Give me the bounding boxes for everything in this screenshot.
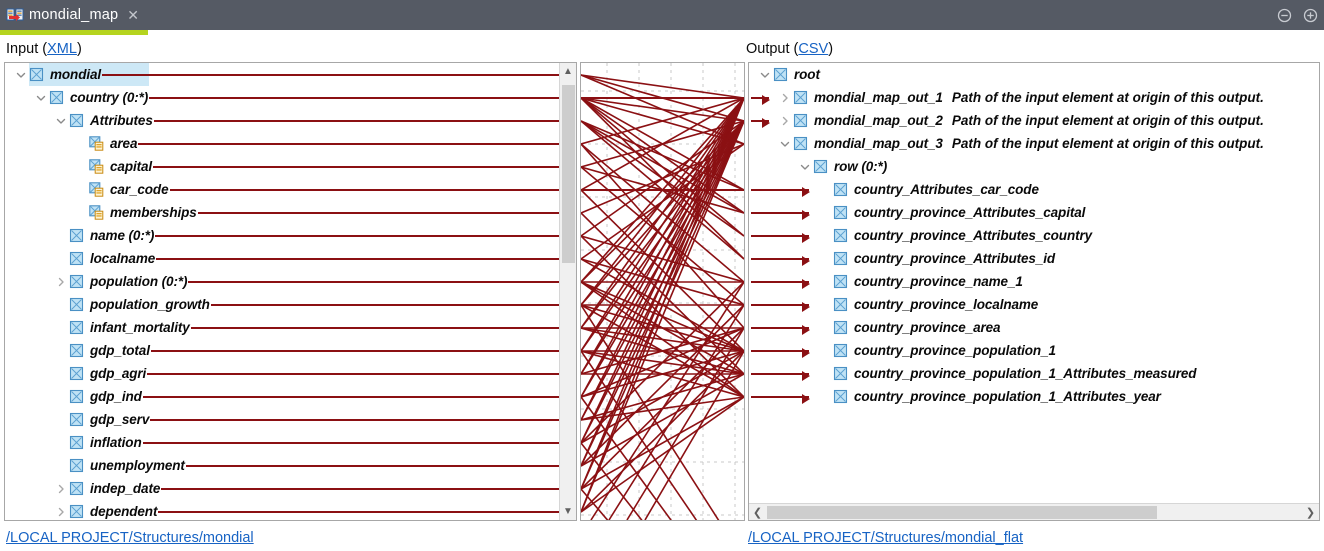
output-tree-row[interactable]: country_province_Attributes_country	[749, 224, 1319, 247]
input-tree-row-label: population (0:*)	[90, 274, 187, 289]
input-tree-row-label: name (0:*)	[90, 228, 154, 243]
element-icon	[69, 113, 84, 128]
mapping-line-stub	[211, 304, 561, 306]
input-tree-row-label: localname	[90, 251, 155, 266]
input-tree-row[interactable]: population (0:*)	[5, 270, 576, 293]
attribute-icon	[89, 205, 104, 220]
chevron-right-icon[interactable]	[53, 484, 69, 494]
origin-hint-text: Path of the input element at origin of t…	[952, 90, 1264, 105]
output-tree-row[interactable]: country_Attributes_car_code	[749, 178, 1319, 201]
input-tree-row[interactable]: area	[5, 132, 576, 155]
origin-hint-text: Path of the input element at origin of t…	[952, 113, 1264, 128]
mapping-line-stub	[158, 511, 561, 513]
chevron-down-icon[interactable]	[53, 116, 69, 126]
element-icon	[69, 435, 84, 450]
output-tree-row[interactable]: country_province_population_1	[749, 339, 1319, 362]
element-icon	[793, 113, 808, 128]
input-tree-row[interactable]: capital	[5, 155, 576, 178]
element-icon	[833, 366, 848, 381]
element-icon	[69, 366, 84, 381]
mapping-line-stub	[102, 74, 561, 76]
element-icon	[833, 205, 848, 220]
tab-mondial-map[interactable]: mondial_map ✕	[0, 0, 148, 30]
input-tree-row[interactable]: gdp_total	[5, 339, 576, 362]
mapping-line-stub	[188, 281, 561, 283]
output-tree-row-label: country_Attributes_car_code	[854, 182, 1039, 197]
output-tree-row-label: country_province_population_1_Attributes…	[854, 366, 1196, 381]
input-tree-row[interactable]: inflation	[5, 431, 576, 454]
window-buttons	[1277, 0, 1318, 30]
mapping-arrow-icon	[751, 327, 809, 329]
chevron-right-icon[interactable]	[53, 507, 69, 517]
scrollbar-thumb[interactable]	[767, 506, 1157, 519]
element-icon	[69, 481, 84, 496]
chevron-right-icon[interactable]	[777, 116, 793, 126]
output-tree-row[interactable]: country_province_population_1_Attributes…	[749, 385, 1319, 408]
output-tree-row-label: mondial_map_out_3	[814, 136, 943, 151]
input-tree-row[interactable]: localname	[5, 247, 576, 270]
element-icon	[793, 136, 808, 151]
input-tree-row[interactable]: population_growth	[5, 293, 576, 316]
output-tree-row-label: country_province_localname	[854, 297, 1038, 312]
output-format-link[interactable]: CSV	[798, 41, 828, 57]
mapping-line-stub	[154, 120, 561, 122]
input-tree-row-label: indep_date	[90, 481, 160, 496]
input-tree-row[interactable]: car_code	[5, 178, 576, 201]
title-bar: mondial_map ✕	[0, 0, 1324, 30]
output-tree-row[interactable]: country_province_Attributes_capital	[749, 201, 1319, 224]
attribute-icon	[89, 182, 104, 197]
element-icon	[773, 67, 788, 82]
input-tree-row-label: inflation	[90, 435, 142, 450]
input-tree-row-label: gdp_ind	[90, 389, 142, 404]
output-tree-row-label: country_province_Attributes_id	[854, 251, 1055, 266]
element-icon	[833, 274, 848, 289]
input-tree-row-label: area	[110, 136, 137, 151]
element-icon	[833, 251, 848, 266]
output-tree-row[interactable]: mondial_map_out_3Path of the input eleme…	[749, 132, 1319, 155]
attribute-icon	[89, 159, 104, 174]
input-tree-row-label: unemployment	[90, 458, 185, 473]
element-icon	[813, 159, 828, 174]
element-icon	[69, 274, 84, 289]
mapping-line-stub	[151, 350, 561, 352]
output-tree-row-label: root	[794, 67, 820, 82]
element-icon	[49, 90, 64, 105]
input-tree-row-label: mondial	[50, 67, 101, 82]
chevron-up-icon[interactable]: ▲	[560, 63, 576, 80]
output-tree-row-label: row (0:*)	[834, 159, 887, 174]
chevron-down-icon[interactable]: ▼	[560, 503, 576, 520]
output-tree-panel[interactable]: rootmondial_map_out_1Path of the input e…	[748, 62, 1320, 521]
element-icon	[69, 458, 84, 473]
input-tree-row[interactable]: indep_date	[5, 477, 576, 500]
input-tree-row-label: capital	[110, 159, 152, 174]
element-icon	[833, 297, 848, 312]
input-tree-row-label: gdp_total	[90, 343, 150, 358]
output-tree-row-label: mondial_map_out_1	[814, 90, 943, 105]
input-tree-row[interactable]: gdp_ind	[5, 385, 576, 408]
output-tree-row-label: country_province_population_1	[854, 343, 1056, 358]
element-icon	[833, 228, 848, 243]
mapping-arrow-icon	[751, 281, 809, 283]
input-tree-row[interactable]: Attributes	[5, 109, 576, 132]
element-icon	[69, 228, 84, 243]
element-icon	[833, 182, 848, 197]
output-header-text-end: )	[828, 41, 833, 57]
mapping-line-stub	[155, 235, 561, 237]
tab-active-accent	[0, 30, 148, 35]
output-tree-row-label: country_province_Attributes_country	[854, 228, 1092, 243]
mapping-line-stub	[143, 442, 561, 444]
element-icon	[69, 504, 84, 519]
output-tree-row[interactable]: row (0:*)	[749, 155, 1319, 178]
input-tree-row[interactable]: unemployment	[5, 454, 576, 477]
input-tree-row[interactable]: mondial	[5, 63, 576, 86]
output-tree-row[interactable]: country_province_name_1	[749, 270, 1319, 293]
mapping-line-stub	[191, 327, 561, 329]
input-tree-row-label: country (0:*)	[70, 90, 148, 105]
connector-panel[interactable]	[580, 62, 745, 521]
input-section-header: Input (XML)	[6, 41, 82, 57]
mapping-line-stub	[149, 97, 561, 99]
mapping-icon	[6, 6, 24, 24]
origin-hint-text: Path of the input element at origin of t…	[952, 136, 1264, 151]
output-section-header: Output (CSV)	[746, 41, 833, 57]
mapping-line-stub	[198, 212, 561, 214]
chevron-down-icon[interactable]	[797, 162, 813, 172]
mapping-arrow-icon	[751, 304, 809, 306]
mapping-line-stub	[161, 488, 561, 490]
circle-plus-icon[interactable]	[1303, 8, 1318, 23]
input-tree-row[interactable]: infant_mortality	[5, 316, 576, 339]
chevron-left-icon[interactable]: ❮	[749, 504, 766, 520]
input-tree-row[interactable]: country (0:*)	[5, 86, 576, 109]
element-icon	[69, 389, 84, 404]
output-tree-row-label: country_province_area	[854, 320, 1000, 335]
input-tree-row[interactable]: name (0:*)	[5, 224, 576, 247]
input-tree-row-label: dependent	[90, 504, 157, 519]
chevron-right-icon[interactable]: ❯	[1302, 504, 1319, 520]
chevron-right-icon[interactable]	[777, 93, 793, 103]
close-icon[interactable]: ✕	[127, 8, 139, 22]
tab-label: mondial_map	[29, 7, 118, 23]
mapping-line-stub	[138, 143, 561, 145]
output-tree-row-label: country_province_name_1	[854, 274, 1023, 289]
mapping-line-stub	[186, 465, 561, 467]
element-icon	[69, 320, 84, 335]
input-tree-row[interactable]: gdp_agri	[5, 362, 576, 385]
mapping-line-stub	[143, 396, 561, 398]
chevron-right-icon[interactable]	[53, 277, 69, 287]
mapping-arrow-icon	[751, 189, 809, 191]
input-tree-row-label: Attributes	[90, 113, 153, 128]
output-structure-path-link[interactable]: /LOCAL PROJECT/Structures/mondial_flat	[748, 530, 1023, 546]
mapping-line-stub	[156, 258, 561, 260]
element-icon	[833, 343, 848, 358]
output-tree-row-label: country_province_population_1_Attributes…	[854, 389, 1161, 404]
element-icon	[793, 90, 808, 105]
output-tree-row-label: country_province_Attributes_capital	[854, 205, 1085, 220]
output-tree-row[interactable]: mondial_map_out_2Path of the input eleme…	[749, 109, 1319, 132]
input-format-link[interactable]: XML	[47, 41, 77, 57]
output-tree-row[interactable]: country_province_population_1_Attributes…	[749, 362, 1319, 385]
input-tree-row[interactable]: memberships	[5, 201, 576, 224]
output-tree[interactable]: rootmondial_map_out_1Path of the input e…	[749, 63, 1319, 520]
mapping-arrow-icon	[751, 258, 809, 260]
element-icon	[69, 343, 84, 358]
element-icon	[833, 389, 848, 404]
input-tree[interactable]: mondialcountry (0:*)Attributesareacapita…	[5, 63, 576, 520]
mapping-arrow-icon	[751, 212, 809, 214]
mapping-arrow-icon	[751, 396, 809, 398]
chevron-down-icon[interactable]	[757, 70, 773, 80]
input-tree-row-label: infant_mortality	[90, 320, 190, 335]
input-tree-row[interactable]: dependent	[5, 500, 576, 520]
circle-minus-icon[interactable]	[1277, 8, 1292, 23]
mapping-arrow-icon	[751, 97, 769, 99]
mapping-arrow-icon	[751, 350, 809, 352]
output-header-text: Output (	[746, 41, 798, 57]
output-tree-row[interactable]: country_province_Attributes_id	[749, 247, 1319, 270]
output-tree-row[interactable]: mondial_map_out_1Path of the input eleme…	[749, 86, 1319, 109]
output-horizontal-scrollbar[interactable]: ❮ ❯	[749, 503, 1319, 520]
mapping-connector-lines	[581, 63, 744, 520]
element-icon	[69, 297, 84, 312]
input-header-text-end: )	[77, 41, 82, 57]
output-tree-row-label: mondial_map_out_2	[814, 113, 943, 128]
mapping-arrow-icon	[751, 373, 809, 375]
chevron-down-icon[interactable]	[777, 139, 793, 149]
input-tree-row-label: memberships	[110, 205, 197, 220]
element-icon	[29, 67, 44, 82]
input-tree-row-label: car_code	[110, 182, 169, 197]
input-tree-panel[interactable]: mondialcountry (0:*)Attributesareacapita…	[4, 62, 577, 521]
mapping-line-stub	[153, 166, 561, 168]
input-structure-path-link[interactable]: /LOCAL PROJECT/Structures/mondial	[6, 530, 254, 546]
input-tree-row[interactable]: gdp_serv	[5, 408, 576, 431]
input-tree-row-label: population_growth	[90, 297, 210, 312]
mapping-arrow-icon	[751, 235, 809, 237]
input-tree-row-label: gdp_serv	[90, 412, 149, 427]
element-icon	[69, 251, 84, 266]
element-icon	[833, 320, 848, 335]
output-tree-row[interactable]: country_province_localname	[749, 293, 1319, 316]
mapping-arrow-icon	[751, 120, 769, 122]
input-tree-row-label: gdp_agri	[90, 366, 146, 381]
output-tree-row[interactable]: root	[749, 63, 1319, 86]
input-header-text: Input (	[6, 41, 47, 57]
mapping-line-stub	[170, 189, 561, 191]
scrollbar-thumb[interactable]	[562, 85, 575, 263]
output-tree-row[interactable]: country_province_area	[749, 316, 1319, 339]
mapping-line-stub	[147, 373, 561, 375]
chevron-down-icon[interactable]	[33, 93, 49, 103]
mapping-line-stub	[150, 419, 561, 421]
element-icon	[69, 412, 84, 427]
input-vertical-scrollbar[interactable]: ▲ ▼	[559, 63, 576, 520]
attribute-icon	[89, 136, 104, 151]
chevron-down-icon[interactable]	[13, 70, 29, 80]
